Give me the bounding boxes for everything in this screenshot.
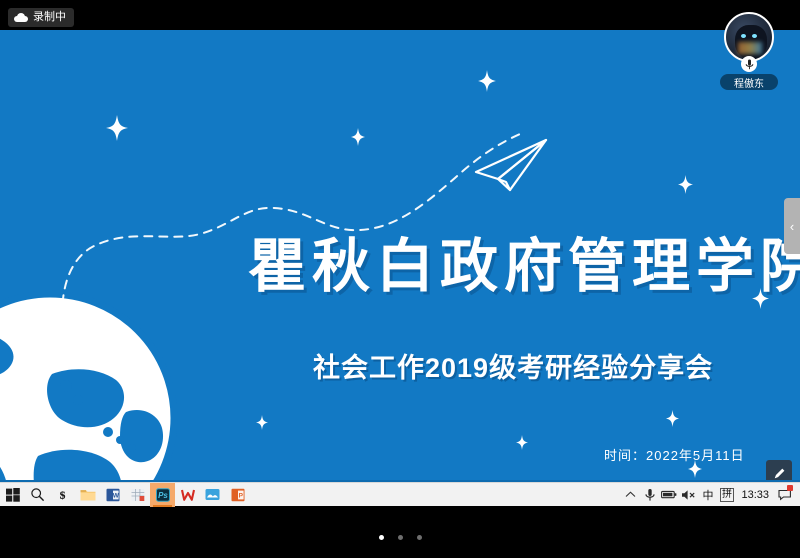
svg-text:$: $ (60, 490, 66, 502)
page-dot[interactable] (417, 535, 422, 540)
svg-text:Ps: Ps (158, 491, 168, 500)
search-button[interactable] (25, 483, 50, 507)
annotate-button[interactable] (766, 460, 792, 482)
photoshop-icon: Ps (156, 488, 170, 502)
tray-battery[interactable] (659, 483, 679, 507)
svg-text:P: P (238, 492, 243, 499)
excel-icon (131, 488, 145, 502)
sparkle-icon (256, 415, 268, 430)
taskbar-app-photoshop[interactable]: Ps (150, 483, 175, 507)
taskbar-clock[interactable]: 13:33 (736, 489, 774, 501)
tray-ime-layout[interactable]: 拼 (717, 483, 736, 507)
tray-overflow-button[interactable] (621, 483, 640, 507)
paper-plane-icon (470, 138, 550, 198)
notification-badge (787, 485, 793, 491)
slide-subtitle: 社会工作2019级考研经验分享会 (313, 354, 743, 384)
slide-title: 瞿秋白政府管理学院 (248, 237, 788, 295)
windows-taskbar: S $ W (0, 482, 800, 506)
taskbar-app-file-explorer[interactable] (75, 483, 100, 507)
slide-datetime: 时间：2022年5月11日 (604, 445, 745, 464)
windows-logo-icon (6, 488, 20, 502)
taskbar-app-meeting[interactable] (200, 483, 225, 507)
taskbar-app-excel[interactable] (125, 483, 150, 507)
search-icon (30, 487, 45, 502)
sparkle-icon (351, 128, 365, 146)
start-button[interactable] (0, 483, 25, 507)
ss-icon: S $ (55, 487, 70, 502)
page-indicator (0, 530, 800, 544)
taskbar-app-wps[interactable] (175, 483, 200, 507)
powerpoint-icon: P (231, 488, 245, 502)
recording-badge: 录制中 (8, 8, 74, 27)
page-dot[interactable] (379, 535, 384, 540)
volume-muted-icon (681, 489, 696, 501)
screen-root: 录制中 (0, 0, 800, 558)
wps-icon (181, 488, 195, 502)
system-tray: 中 拼 13:33 (621, 483, 800, 507)
chevron-up-icon (625, 490, 636, 499)
tray-ime-mode[interactable]: 中 (698, 483, 717, 507)
folder-icon (80, 488, 96, 502)
notification-button[interactable] (774, 483, 796, 507)
presentation-slide[interactable]: 瞿秋白政府管理学院 社会工作2019级考研经验分享会 时间：2022年5月11日… (0, 30, 800, 482)
panel-collapse-handle[interactable]: ‹ (784, 198, 800, 254)
sparkle-icon (678, 175, 693, 194)
chevron-left-icon: ‹ (790, 219, 794, 234)
sparkle-icon (516, 435, 528, 450)
tray-volume[interactable] (679, 483, 698, 507)
sparkle-icon (478, 70, 496, 92)
pen-icon (772, 466, 787, 481)
battery-icon (661, 489, 677, 500)
sparkle-icon (666, 410, 679, 427)
recording-badge-label: 录制中 (33, 12, 66, 23)
taskbar-app-word[interactable]: W (100, 483, 125, 507)
meeting-icon (205, 488, 220, 501)
microphone-icon (645, 488, 655, 502)
svg-text:W: W (112, 492, 119, 499)
taskbar-app-powerpoint[interactable]: P (225, 483, 250, 507)
page-dot[interactable] (398, 535, 403, 540)
taskbar-app-snipaste[interactable]: S $ (50, 483, 75, 507)
cloud-icon (14, 13, 28, 22)
sparkle-icon (106, 115, 128, 141)
avatar (724, 12, 774, 62)
participant-tile[interactable]: 程傲东 (720, 12, 778, 88)
microphone-icon (741, 56, 757, 72)
tray-microphone[interactable] (640, 483, 659, 507)
word-icon: W (106, 488, 120, 502)
participant-name: 程傲东 (720, 74, 778, 90)
